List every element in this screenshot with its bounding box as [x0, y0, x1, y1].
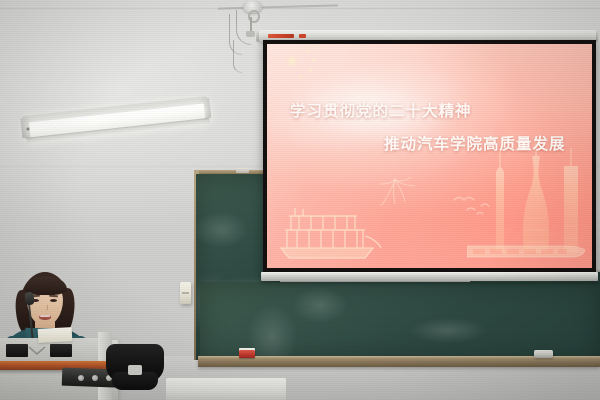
board-eraser[interactable]	[534, 350, 553, 358]
chalkboard-main	[200, 282, 600, 360]
firework-icon	[377, 172, 419, 208]
student-desk	[166, 378, 286, 400]
ceiling-cable-c	[233, 40, 242, 73]
flag-star-large-icon: ★	[285, 54, 298, 69]
podium-button-2[interactable]	[92, 375, 98, 381]
podium-display-right[interactable]	[50, 344, 72, 357]
presenter-nose	[43, 305, 48, 311]
presenter-teeth	[40, 315, 50, 317]
office-chair-gap	[128, 365, 142, 375]
chalkboard-clip	[236, 168, 249, 173]
projector-mount-nut	[246, 31, 255, 37]
slide-title-line-1: 学习贯彻党的二十大精神	[290, 99, 472, 121]
microphone-head-icon[interactable]	[24, 291, 35, 305]
flag-star-small-4-icon: ★	[298, 75, 303, 81]
projection-screen-bottom-bar[interactable]	[261, 272, 598, 281]
chevron-down-icon	[28, 346, 46, 356]
high-speed-train-icon	[467, 244, 585, 260]
wall-switch-slot	[182, 292, 189, 294]
screen-brand-label-mark	[299, 34, 306, 38]
red-boat-icon	[277, 206, 385, 262]
podium-button-1[interactable]	[78, 375, 84, 381]
chalk-smudges-main	[200, 282, 600, 360]
flag-star-small-3-icon: ★	[308, 68, 313, 74]
wall-seam-top	[0, 8, 600, 9]
chalk-box[interactable]	[239, 350, 255, 358]
presentation-slide: ★ ★ ★ ★ ★	[267, 44, 592, 268]
chalk-tray	[198, 358, 600, 367]
flag-star-small-2-icon: ★	[311, 58, 316, 64]
presenter-eye-right	[50, 299, 57, 302]
screen-brand-label	[268, 34, 294, 38]
classroom-photo: ★ ★ ★ ★ ★	[0, 0, 600, 400]
flag-star-small-1-icon: ★	[305, 49, 310, 55]
lectern-papers[interactable]	[38, 327, 73, 343]
slide-title-line-2: 推动汽车学院高质量发展	[384, 132, 566, 154]
podium-display-left[interactable]	[6, 344, 28, 357]
